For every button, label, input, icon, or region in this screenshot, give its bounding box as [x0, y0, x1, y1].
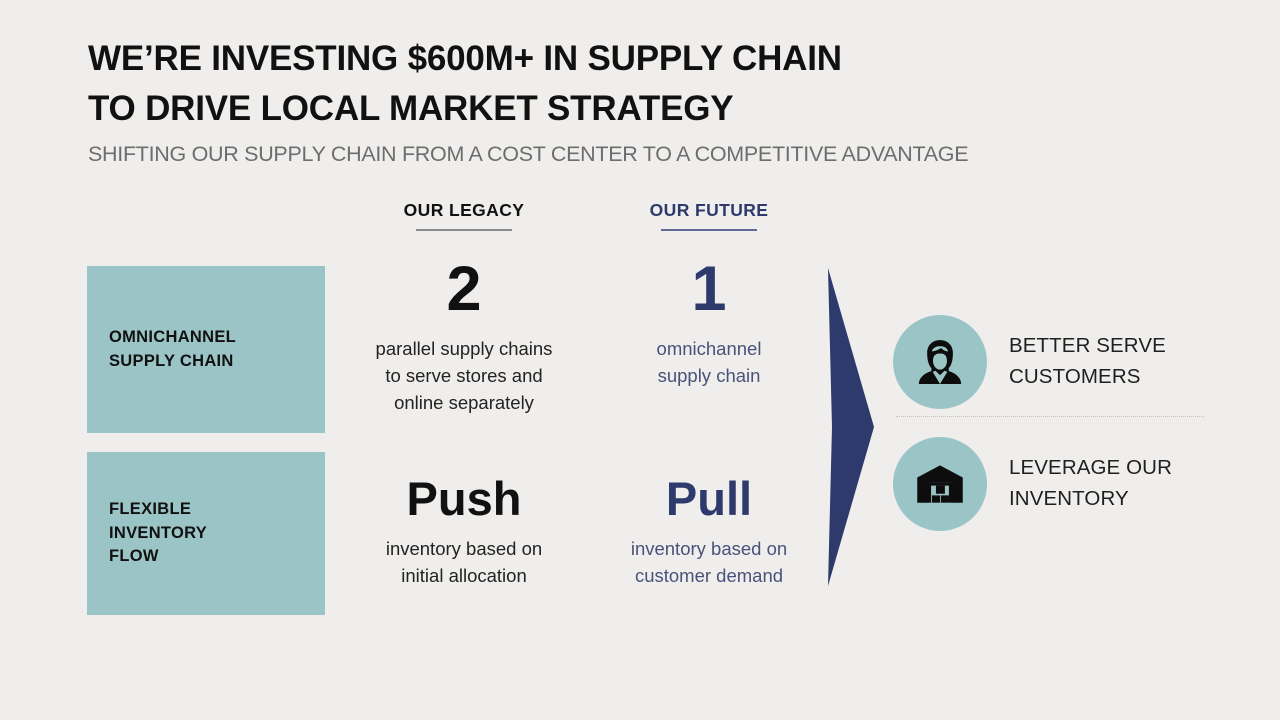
cell-legacy-omnichannel: 2 parallel supply chains to serve stores… [345, 258, 583, 416]
column-header-future-label: OUR FUTURE [594, 200, 824, 221]
cell-headline: Push [345, 475, 583, 522]
outcome-badge [893, 315, 987, 409]
outcome-label: BETTER SERVE CUSTOMERS [1009, 331, 1166, 393]
category-label: FLEXIBLE INVENTORY FLOW [109, 498, 207, 570]
cell-future-inventory-flow: Pull inventory based on customer demand [594, 475, 824, 590]
category-box-flexible-inventory-flow: FLEXIBLE INVENTORY FLOW [87, 452, 325, 615]
slide-header: WE’RE INVESTING $600M+ IN SUPPLY CHAIN T… [88, 34, 1198, 167]
customer-person-icon [914, 336, 966, 388]
outcome-divider [896, 416, 1204, 417]
right-arrow-icon [826, 268, 874, 586]
cell-description: parallel supply chains to serve stores a… [345, 336, 583, 416]
page-subtitle: SHIFTING OUR SUPPLY CHAIN FROM A COST CE… [88, 142, 1198, 167]
column-header-future: OUR FUTURE [594, 200, 824, 231]
column-header-legacy-underline [416, 229, 512, 231]
column-header-legacy: OUR LEGACY [345, 200, 583, 231]
cell-description: omnichannel supply chain [594, 336, 824, 390]
outcome-badge [893, 437, 987, 531]
cell-headline: 1 [594, 258, 824, 321]
cell-future-omnichannel: 1 omnichannel supply chain [594, 258, 824, 390]
category-label: OMNICHANNEL SUPPLY CHAIN [109, 326, 236, 374]
category-box-omnichannel-supply-chain: OMNICHANNEL SUPPLY CHAIN [87, 266, 325, 433]
cell-headline: Pull [594, 475, 824, 522]
page-title-line-2: TO DRIVE LOCAL MARKET STRATEGY [88, 84, 1198, 134]
outcome-better-serve-customers: BETTER SERVE CUSTOMERS [893, 315, 1166, 409]
page-title-line-1: WE’RE INVESTING $600M+ IN SUPPLY CHAIN [88, 34, 1198, 84]
warehouse-icon [914, 458, 966, 510]
outcome-label: LEVERAGE OUR INVENTORY [1009, 453, 1172, 515]
cell-description: inventory based on initial allocation [345, 536, 583, 590]
cell-description: inventory based on customer demand [594, 536, 824, 590]
cell-legacy-inventory-flow: Push inventory based on initial allocati… [345, 475, 583, 590]
column-header-future-underline [661, 229, 757, 231]
column-header-legacy-label: OUR LEGACY [345, 200, 583, 221]
outcome-leverage-our-inventory: LEVERAGE OUR INVENTORY [893, 437, 1172, 531]
cell-headline: 2 [345, 258, 583, 321]
